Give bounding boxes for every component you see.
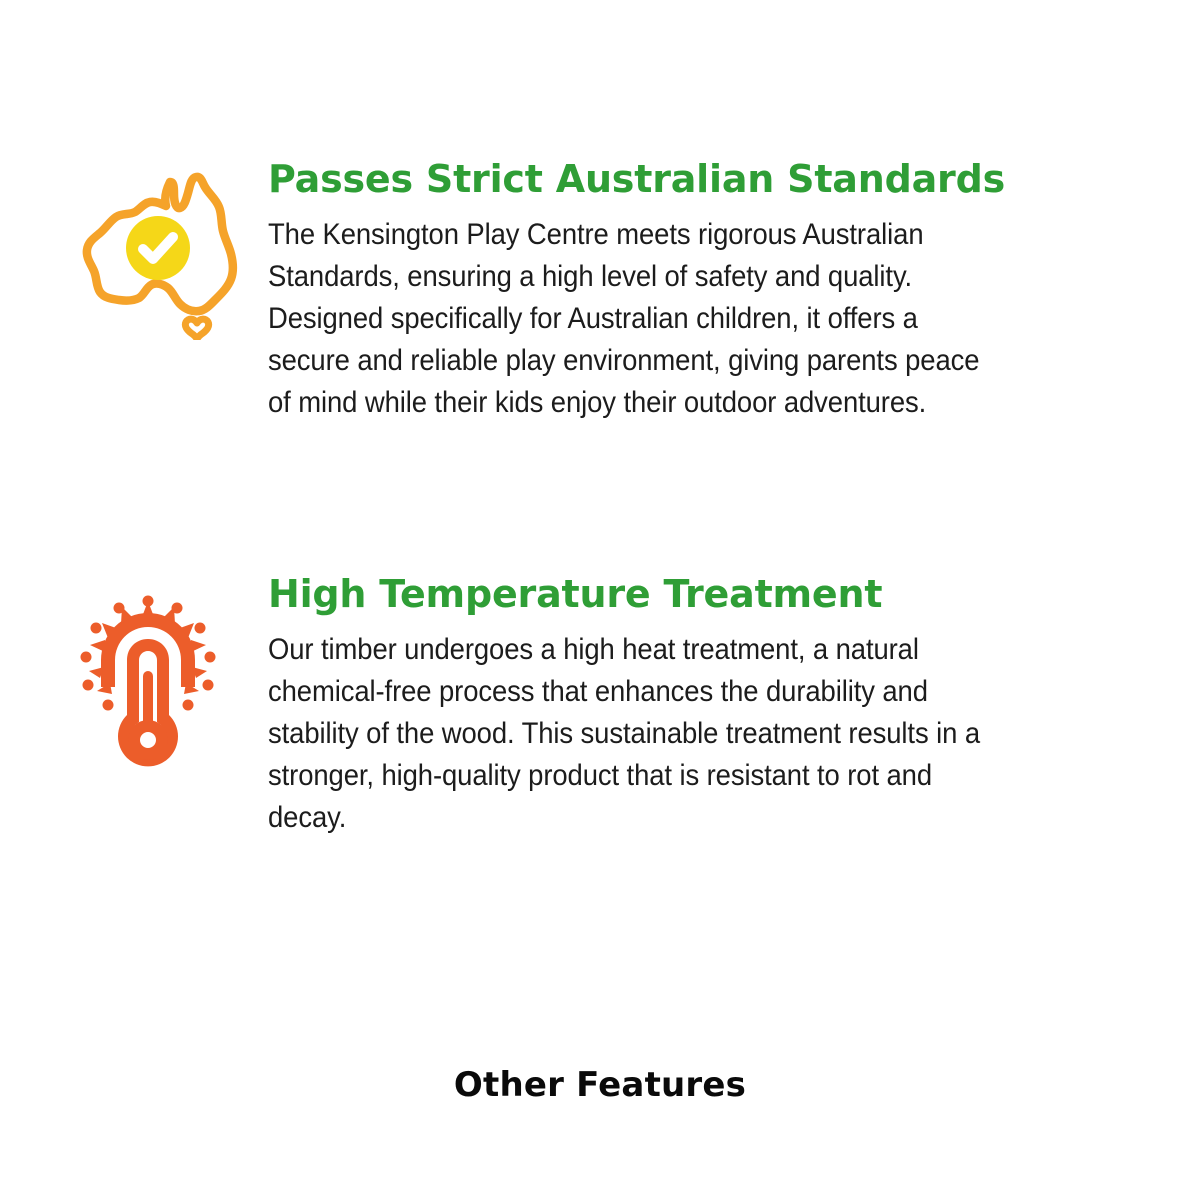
feature-title-temperature: High Temperature Treatment <box>268 575 1058 615</box>
feature-block-temperature: High Temperature Treatment Our timber un… <box>78 575 1058 839</box>
feature-block-standards: Passes Strict Australian Standards The K… <box>78 160 1058 424</box>
other-features-heading: Other Features <box>0 1065 1200 1105</box>
feature-body-standards: Passes Strict Australian Standards The K… <box>268 160 1058 424</box>
feature-list-page: Passes Strict Australian Standards The K… <box>0 0 1200 1200</box>
thermometer-bulb <box>128 720 168 760</box>
feature-text-standards: The Kensington Play Centre meets rigorou… <box>268 214 1003 424</box>
feature-body-temperature: High Temperature Treatment Our timber un… <box>268 575 1058 839</box>
feature-text-temperature: Our timber undergoes a high heat treatme… <box>268 629 1003 839</box>
feature-icon-container-standards <box>78 160 268 340</box>
australia-map-check-icon <box>78 168 246 340</box>
feature-icon-container-temperature <box>78 575 268 780</box>
feature-title-standards: Passes Strict Australian Standards <box>268 160 1058 200</box>
sun-thermometer-icon <box>78 595 218 780</box>
